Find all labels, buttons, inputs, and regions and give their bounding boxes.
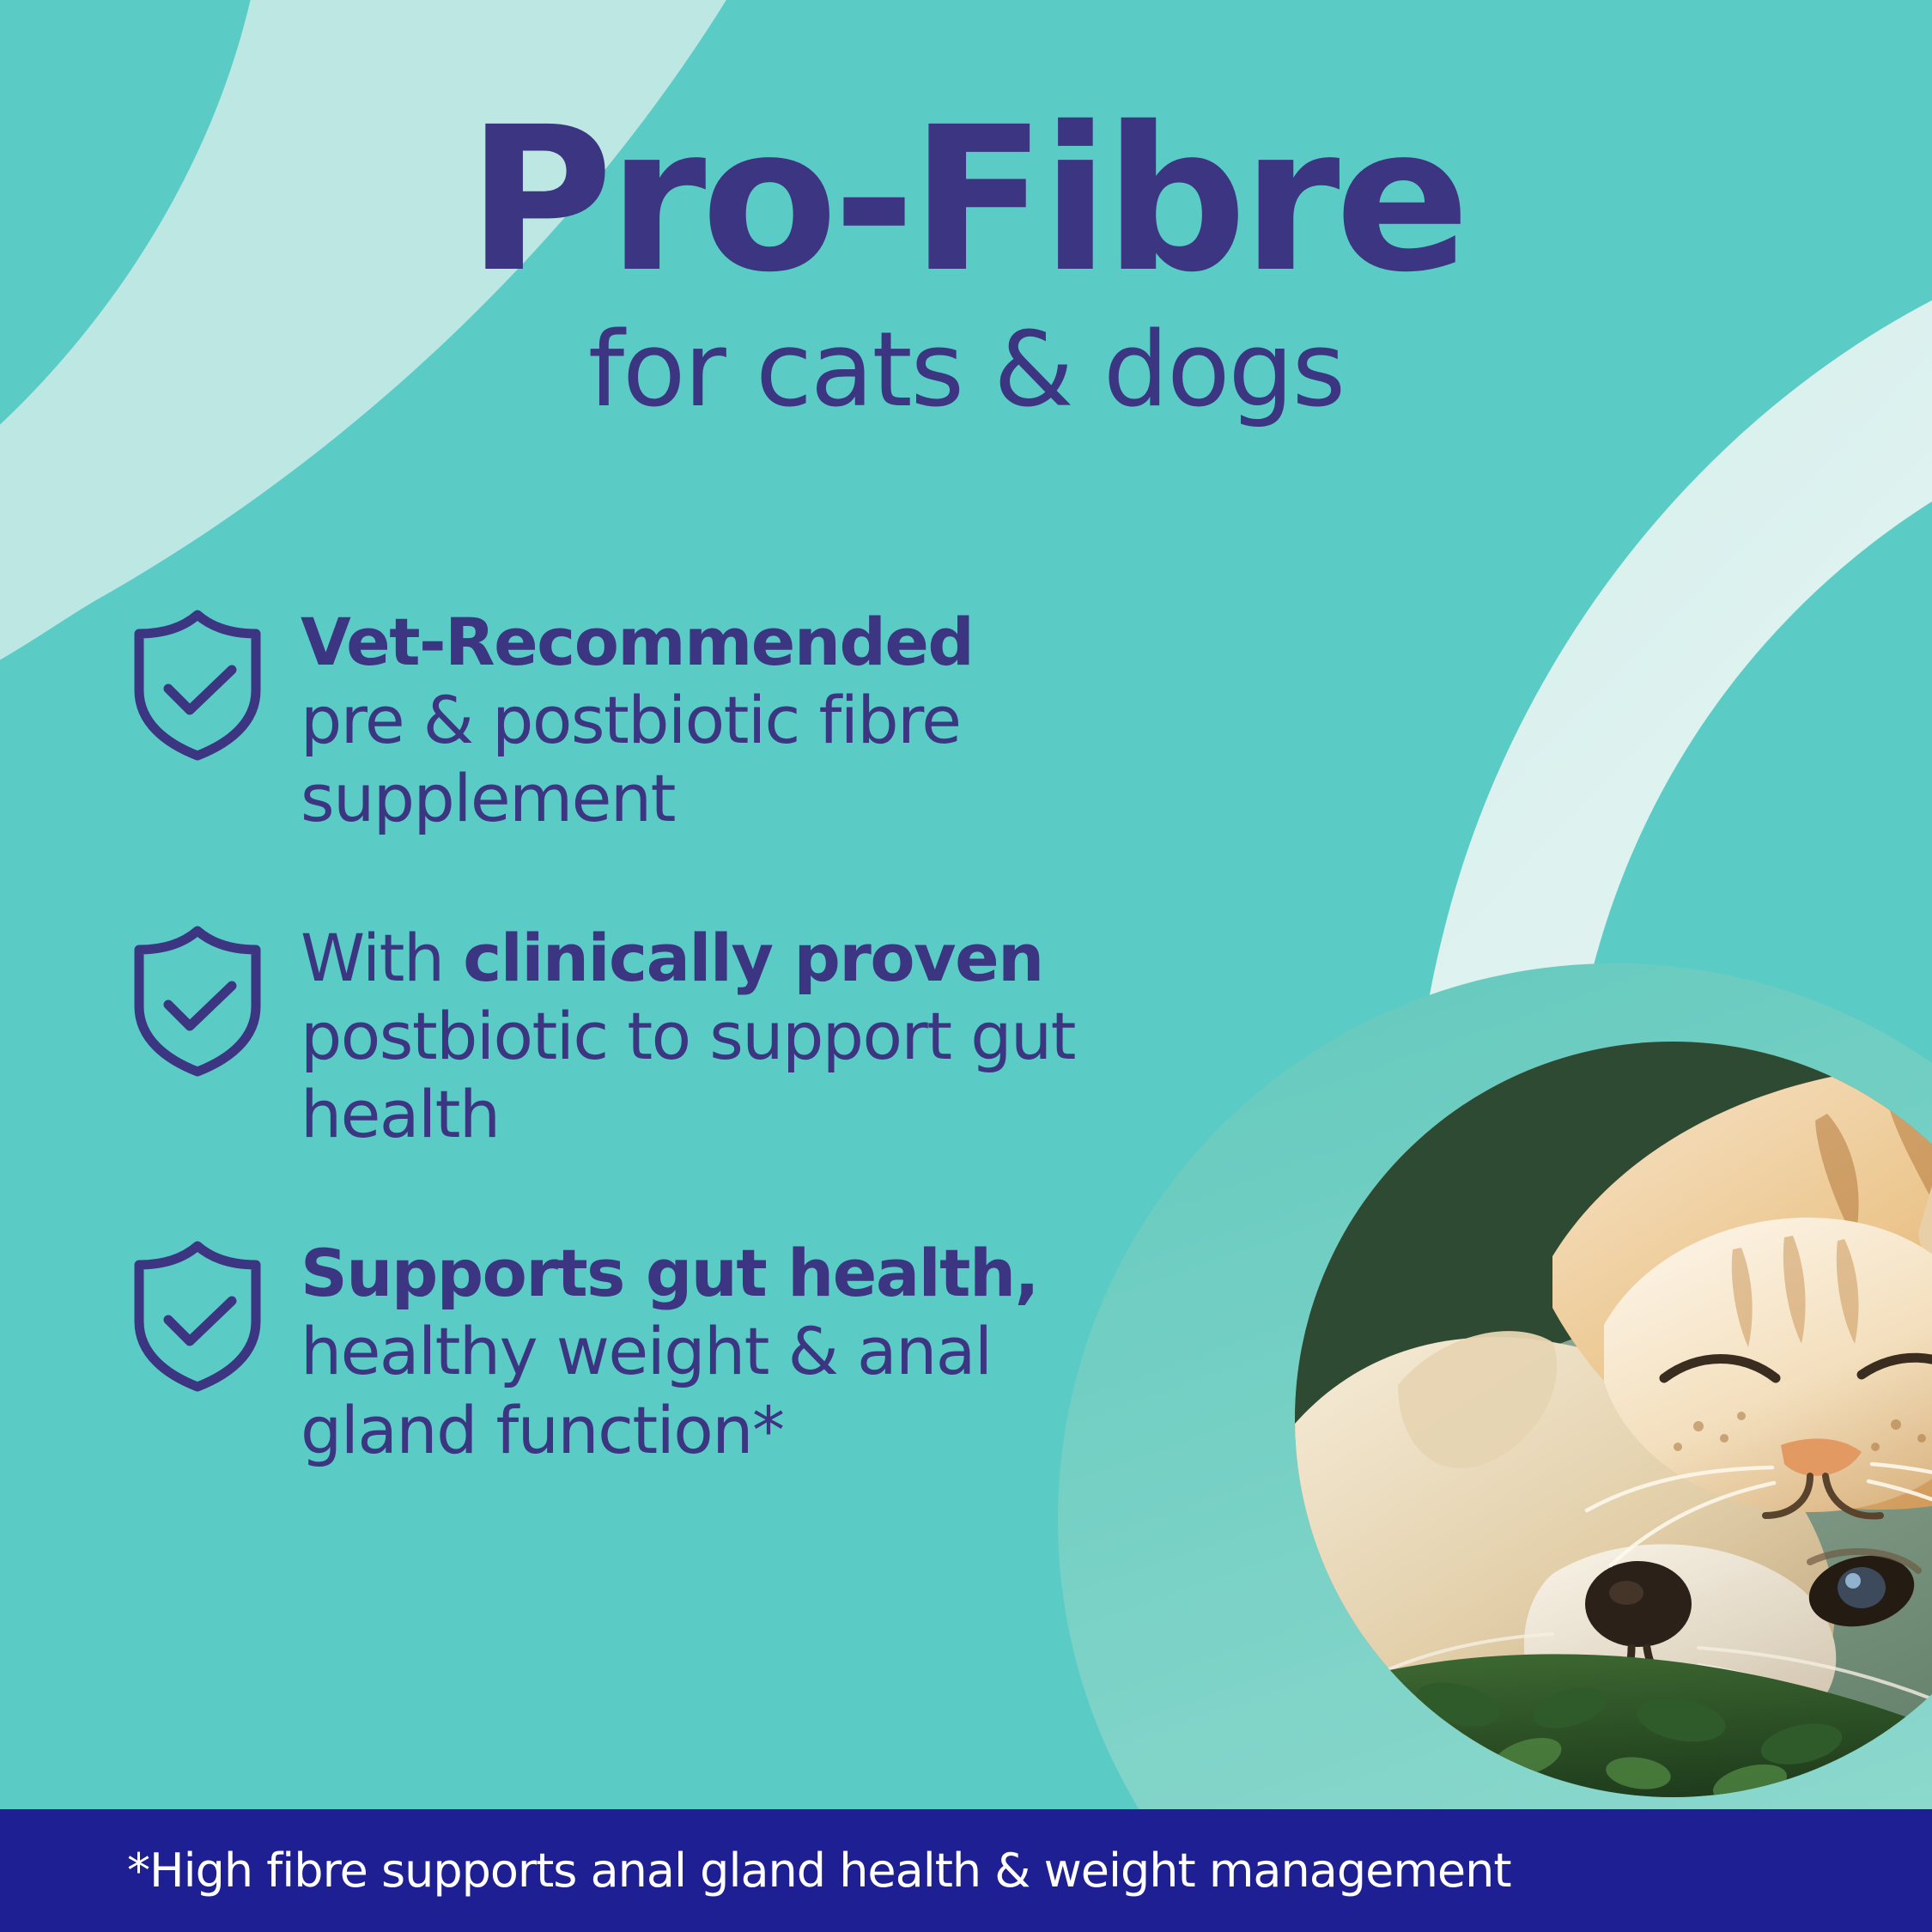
product-banner: Pro-Fibre for cats & dogs Vet-Recommende… xyxy=(0,0,1932,1932)
footer-bar: *High fibre supports anal gland health &… xyxy=(0,1809,1932,1932)
shield-check-icon xyxy=(129,924,266,1077)
feature-item: Vet-Recommended pre & postbiotic fibre s… xyxy=(129,601,1185,838)
feature-lead: With xyxy=(301,920,463,996)
feature-rest: healthy weight & anal gland function* xyxy=(301,1313,991,1467)
shield-check-icon xyxy=(129,1239,266,1392)
feature-item: With clinically proven postbiotic to sup… xyxy=(129,917,1185,1154)
feature-text: Vet-Recommended pre & postbiotic fibre s… xyxy=(301,601,1185,838)
feature-lead: Supports gut health, xyxy=(301,1235,1038,1311)
feature-rest: postbiotic to support gut health xyxy=(301,998,1075,1152)
feature-emphasis: clinically proven xyxy=(463,920,1043,996)
feature-rest: pre & postbiotic fibre supplement xyxy=(301,682,960,836)
footnote-text: *High fibre supports anal gland health &… xyxy=(0,1848,1511,1894)
feature-lead: Vet-Recommended xyxy=(301,604,973,680)
feature-text: With clinically proven postbiotic to sup… xyxy=(301,917,1185,1154)
shield-check-icon xyxy=(129,608,266,761)
feature-list: Vet-Recommended pre & postbiotic fibre s… xyxy=(129,601,1185,1469)
feature-text: Supports gut health, healthy weight & an… xyxy=(301,1232,1185,1469)
feature-item: Supports gut health, healthy weight & an… xyxy=(129,1232,1185,1469)
